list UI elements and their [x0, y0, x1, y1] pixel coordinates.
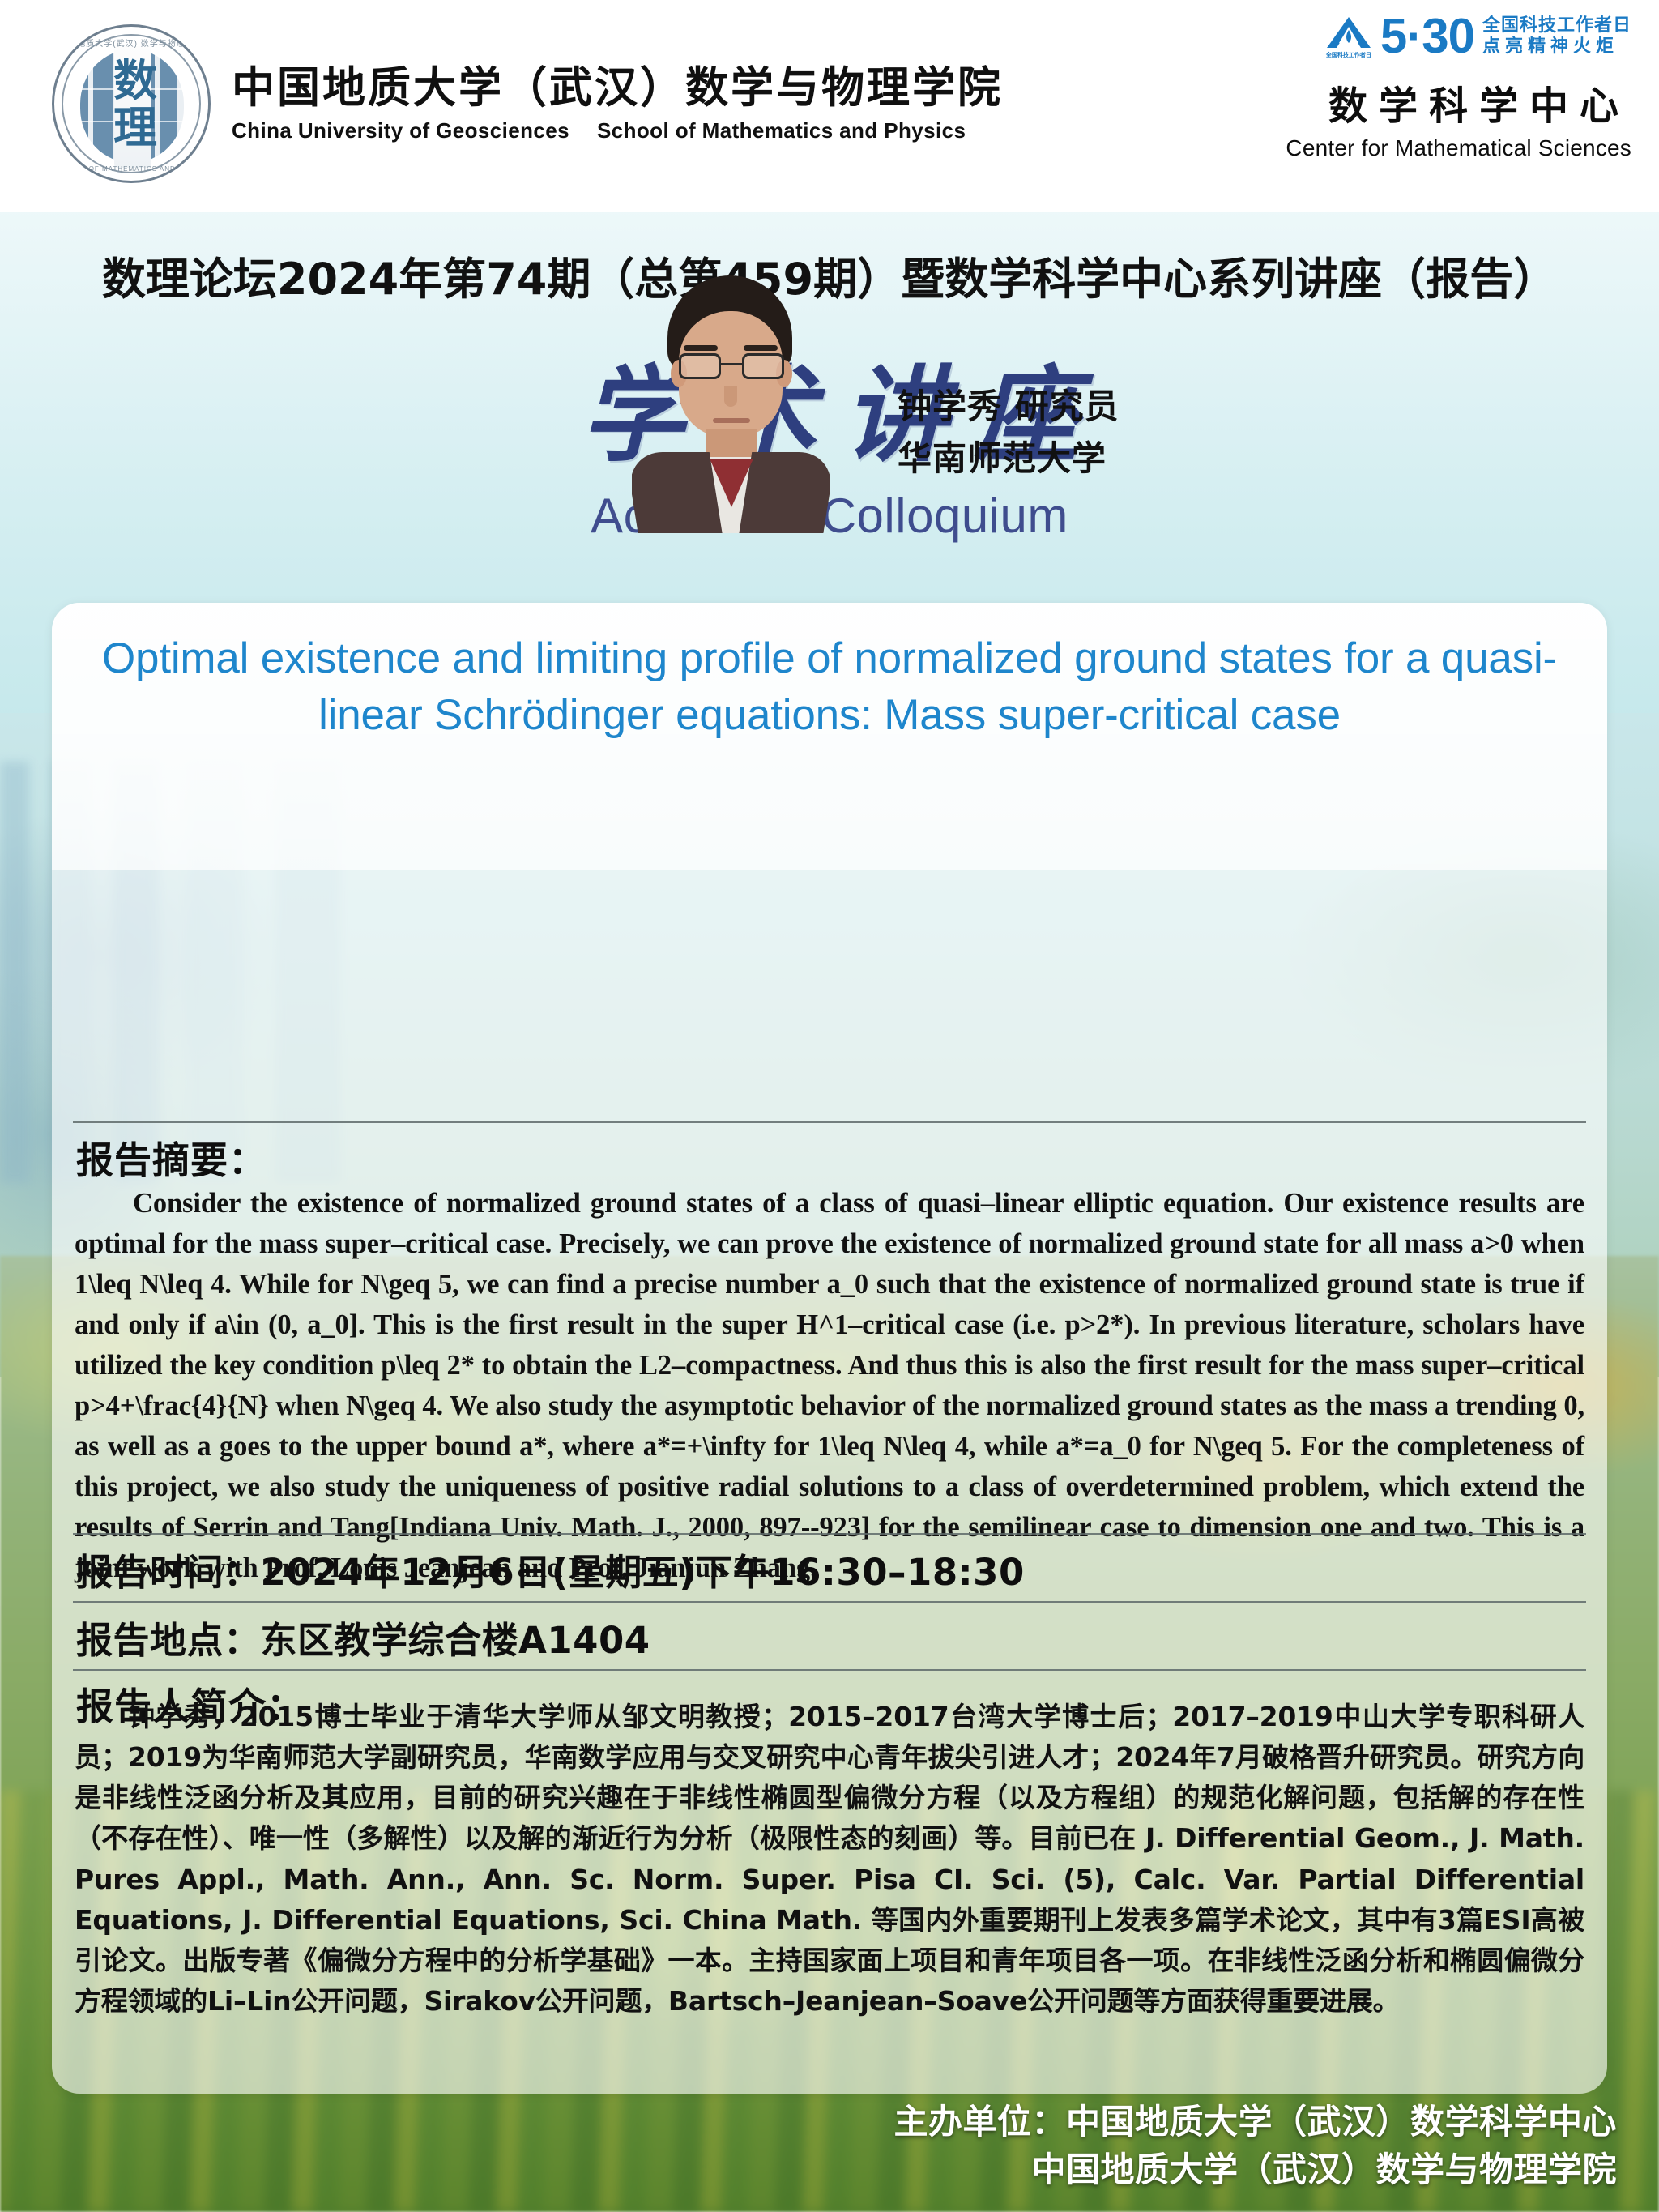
day-slogan-block: 全国科技工作者日 点亮精神火炬 — [1482, 15, 1631, 57]
university-name-en: China University of GeosciencesSchool of… — [232, 118, 1003, 143]
portrait-jacket-right — [739, 452, 829, 533]
poster-root: 数理 中国地质大学(武汉) 数学与物理学院 SCHOOL OF MATHEMAT… — [0, 0, 1659, 2212]
poster-header: 数理 中国地质大学(武汉) 数学与物理学院 SCHOOL OF MATHEMAT… — [0, 0, 1659, 212]
speaker-affiliation: 华南师范大学 — [898, 433, 1120, 485]
center-name-en: Center for Mathematical Sciences — [1286, 135, 1631, 161]
seal-bottom-text: SCHOOL OF MATHEMATICS AND PHYSICS — [54, 165, 208, 173]
speaker-portrait-photo — [632, 275, 829, 533]
glasses-lens-left — [679, 353, 721, 379]
talk-title: Optimal existence and limiting profile o… — [92, 630, 1567, 744]
divider-above-time — [73, 1533, 1586, 1535]
portrait-nose — [724, 386, 737, 407]
day-slogan-line-2: 点亮精神火炬 — [1482, 36, 1631, 57]
speaker-info-block: 钟学秀 研究员 华南师范大学 — [898, 381, 1120, 485]
torch-mountain-icon: 全国科技工作者日 — [1325, 15, 1372, 58]
organizer-line-1: 主办单位：中国地质大学（武汉）数学科学中心 — [893, 2098, 1617, 2146]
organizer-line-2: 中国地质大学（武汉）数学与物理学院 — [893, 2146, 1617, 2194]
bio-text: 钟学秀，2015博士毕业于清华大学师从邹文明教授；2015–2017台湾大学博士… — [75, 1697, 1584, 2022]
portrait-jacket-left — [632, 452, 723, 533]
university-seal-logo: 数理 中国地质大学(武汉) 数学与物理学院 SCHOOL OF MATHEMAT… — [52, 24, 211, 183]
university-name-en-1: China University of Geosciences — [232, 118, 569, 143]
day-slogan-line-1: 全国科技工作者日 — [1482, 15, 1631, 36]
divider-above-bio — [73, 1669, 1586, 1671]
portrait-brow-left — [684, 345, 718, 351]
calligraphy-block: 学术讲座 Academic Colloquium — [0, 348, 1659, 544]
science-workers-day-badge: 全国科技工作者日 5·30 全国科技工作者日 点亮精神火炬 — [1286, 13, 1631, 59]
talk-venue: 报告地点：东区教学综合楼A1404 — [76, 1611, 650, 1663]
content-card: Optimal existence and limiting profile o… — [52, 603, 1607, 2094]
divider-above-abstract — [73, 1121, 1586, 1123]
abstract-heading: 报告摘要： — [76, 1131, 267, 1185]
portrait-brow-right — [744, 345, 778, 351]
day-number-text: 5·30 — [1380, 13, 1474, 59]
abstract-text: Consider the existence of normalized gro… — [75, 1183, 1584, 1588]
university-name-block: 中国地质大学（武汉）数学与物理学院 China University of Ge… — [232, 64, 1003, 143]
portrait-glasses-icon — [677, 353, 786, 381]
forum-series-title: 数理论坛2024年第74期（总第459期）暨数学科学中心系列讲座（报告） — [0, 243, 1659, 307]
seal-glyph-text: 数理 — [96, 58, 171, 156]
university-name-cn: 中国地质大学（武汉）数学与物理学院 — [232, 64, 1003, 112]
talk-time: 报告时间：2024年12月6日(星期五)下午16:30–18:30 — [76, 1543, 1025, 1595]
poster-footer: 主办单位：中国地质大学（武汉）数学科学中心 中国地质大学（武汉）数学与物理学院 — [893, 2098, 1617, 2194]
center-name-cn: 数学科学中心 — [1286, 74, 1631, 130]
university-name-en-2: School of Mathematics and Physics — [597, 118, 966, 143]
divider-above-venue — [73, 1601, 1586, 1603]
torch-icon-caption: 全国科技工作者日 — [1325, 51, 1372, 59]
seal-top-text: 中国地质大学(武汉) 数学与物理学院 — [54, 36, 208, 49]
header-center-block: 全国科技工作者日 5·30 全国科技工作者日 点亮精神火炬 数学科学中心 Cen… — [1286, 13, 1631, 161]
header-university-block: 数理 中国地质大学(武汉) 数学与物理学院 SCHOOL OF MATHEMAT… — [52, 24, 1003, 183]
portrait-mouth — [713, 418, 750, 423]
glasses-bridge — [721, 363, 742, 365]
speaker-name-title: 钟学秀 研究员 — [898, 381, 1120, 433]
calligraphy-cn: 学术讲座 — [0, 348, 1659, 483]
calligraphy-en: Academic Colloquium — [0, 488, 1659, 544]
glasses-lens-right — [742, 353, 784, 379]
